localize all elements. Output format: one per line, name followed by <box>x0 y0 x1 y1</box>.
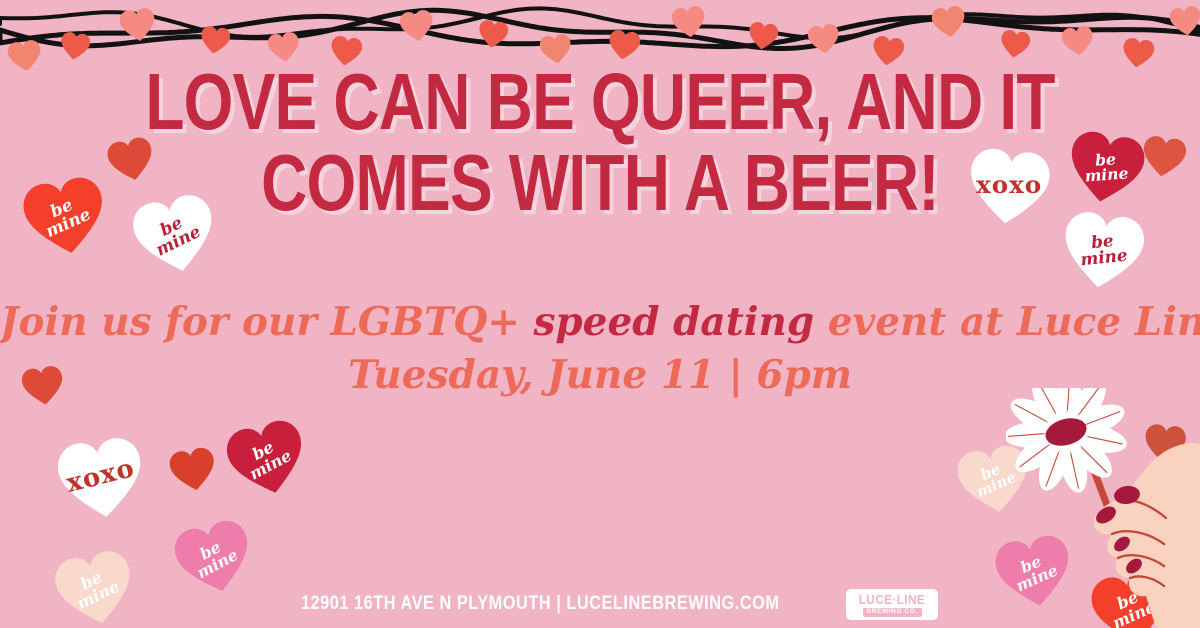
event-details: Join us for our LGBTQ+ speed dating even… <box>0 296 1200 401</box>
garland-heart-icon <box>1061 25 1095 57</box>
garland-heart-icon <box>199 25 231 55</box>
logo-wordmark: LUCE·LINE <box>859 593 925 606</box>
garland-heart-icon <box>399 9 436 44</box>
event-details-text-b: event at Luce Line Brewing <box>814 299 1200 345</box>
event-flyer: be minebe minexoxobe minebe minebe minex… <box>0 0 1200 628</box>
heart-fill <box>966 147 1052 228</box>
headline-line-1: LOVE CAN BE QUEER, AND IT <box>120 62 1080 141</box>
heart-fill <box>55 435 147 522</box>
event-details-emphasis: speed dating <box>533 299 814 345</box>
candy-heart-xoxo-white-right: xoxo <box>964 144 1054 229</box>
candy-heart-be-mine-white-right: be mine <box>1057 207 1149 295</box>
heart-shape-icon <box>1057 207 1149 295</box>
candy-heart-be-mine-white-left: be mine <box>127 188 223 280</box>
heart-fill <box>129 191 221 279</box>
footer-address-and-website: 12901 16TH AVE N PLYMOUTH | LUCELINEBREW… <box>301 593 780 615</box>
luce-line-brewing-logo: LUCE·LINE BREWING CO. <box>846 589 938 621</box>
garland-heart-icon <box>807 23 841 55</box>
heart-plain-3 <box>167 444 220 495</box>
heart-shape-icon <box>53 432 149 524</box>
footer-bar: 12901 16TH AVE N PLYMOUTH | LUCELINEBREW… <box>0 589 1200 621</box>
heart-fill <box>171 516 258 599</box>
garland-heart-icon <box>59 31 91 61</box>
heart-fill <box>1059 209 1147 292</box>
heart-shape-icon <box>964 144 1054 229</box>
event-details-text-a: Join us for our LGBTQ+ <box>0 299 533 345</box>
garland-heart-icon <box>999 29 1031 59</box>
garland-heart-icon <box>931 5 968 40</box>
heart-shape-icon <box>167 444 220 495</box>
logo-tagline: BREWING CO. <box>863 608 922 618</box>
candy-heart-be-mine-crimson-left: be mine <box>220 414 313 504</box>
candy-heart-xoxo-white-left: xoxo <box>53 432 149 524</box>
heart-fill <box>168 446 219 494</box>
headline-line-2: COMES WITH A BEER! <box>120 143 1080 222</box>
heart-fill <box>222 416 311 501</box>
event-details-line-1: Join us for our LGBTQ+ speed dating even… <box>0 296 1200 349</box>
heart-shape-icon <box>127 188 223 280</box>
heart-shape-icon <box>220 414 313 504</box>
